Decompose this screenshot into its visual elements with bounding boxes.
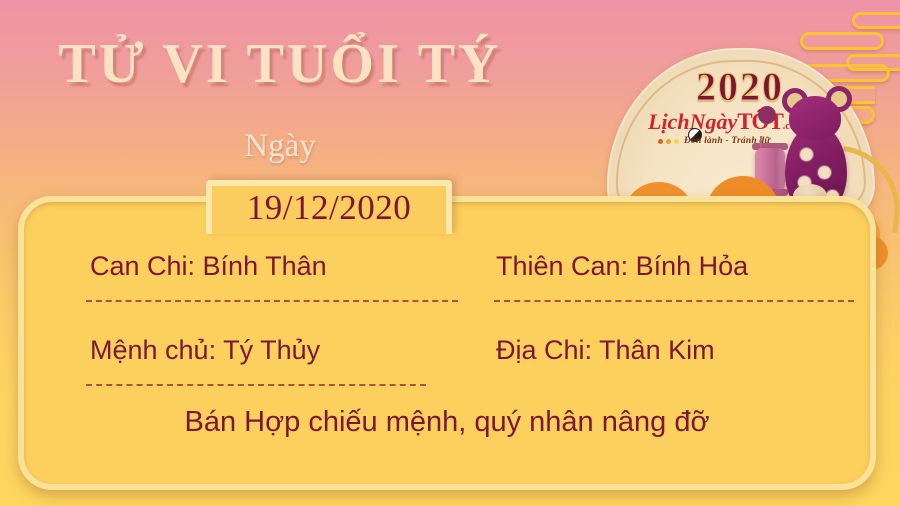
gold-bar-decoration	[852, 12, 900, 29]
table-row: Địa Chi: Thân Kim	[496, 336, 715, 366]
flower-icon	[818, 166, 831, 179]
day-label: Ngày	[0, 128, 560, 165]
poster-canvas: 2020 LịchNgàyTỐT.com Đón lành - Tránh dữ	[0, 0, 900, 506]
page-title: TỬ VI TUỔI TÝ	[0, 32, 560, 96]
row-label-menh-chu: Mệnh chủ: Tý Thủy	[90, 336, 320, 366]
row-divider	[494, 300, 854, 302]
logo-dots-icon	[658, 139, 679, 144]
row-divider	[86, 384, 426, 386]
rat-head-icon	[789, 96, 841, 140]
gold-bar-decoration	[800, 32, 884, 50]
table-row: Can Chi: Bính Thân	[90, 252, 327, 282]
row-label-can-chi: Can Chi: Bính Thân	[90, 252, 327, 282]
info-rows: Can Chi: Bính Thân Thiên Can: Bính Hỏa M…	[18, 196, 876, 490]
date-value: 19/12/2020	[206, 184, 452, 232]
row-divider	[86, 300, 458, 302]
table-row: Mệnh chủ: Tý Thủy	[90, 336, 320, 366]
row-label-thien-can: Thiên Can: Bính Hỏa	[496, 252, 748, 282]
flower-icon	[800, 148, 813, 161]
summary-text: Bán Hợp chiếu mệnh, quý nhân nâng đỡ	[18, 406, 876, 439]
table-row: Thiên Can: Bính Hỏa	[496, 252, 748, 282]
lantern-ball-icon	[758, 106, 776, 124]
row-label-dia-chi: Địa Chi: Thân Kim	[496, 336, 715, 366]
logo-lich: Lịch	[648, 109, 690, 134]
